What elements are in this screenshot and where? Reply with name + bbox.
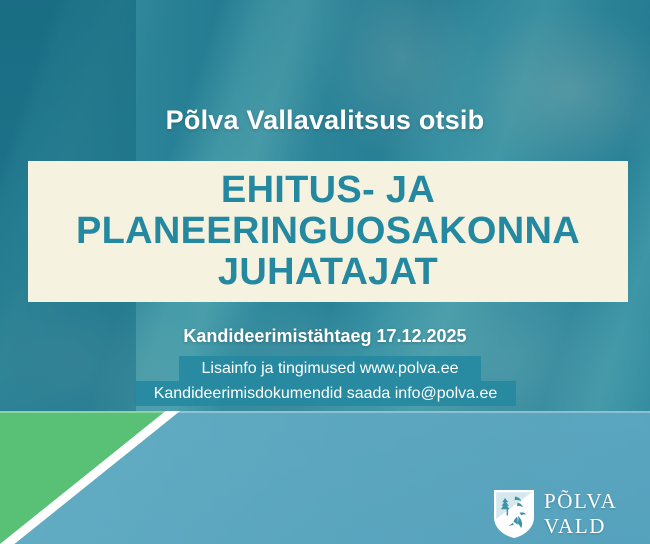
poster-kicker: Põlva Vallavalitsus otsib [0, 105, 650, 136]
recruitment-poster: Põlva Vallavalitsus otsib EHITUS- JA PLA… [0, 0, 650, 544]
info-line-website: Lisainfo ja tingimused www.polva.ee [179, 356, 481, 381]
coat-of-arms-shield-icon [493, 489, 535, 539]
section-divider [0, 411, 650, 413]
info-line-email: Kandideerimisdokumendid saada info@polva… [135, 381, 516, 406]
job-title-panel: EHITUS- JA PLANEERINGUOSAKONNA JUHATAJAT [28, 161, 628, 302]
application-deadline: Kandideerimistähtaeg 17.12.2025 [0, 326, 650, 347]
page-title: EHITUS- JA PLANEERINGUOSAKONNA JUHATAJAT [70, 170, 586, 293]
logo-text: PÕLVA VALD [544, 489, 650, 539]
polva-vald-logo: PÕLVA VALD [493, 489, 650, 539]
